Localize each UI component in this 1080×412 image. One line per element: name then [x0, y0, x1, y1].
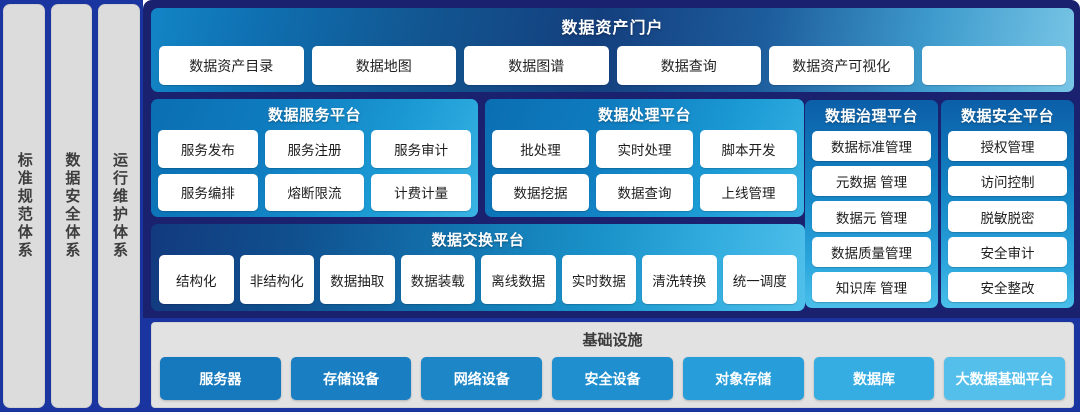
infra-item-object-storage[interactable]: 对象存储: [683, 357, 804, 400]
service-platform-items: 服务发布 服务注册 服务审计 服务编排 熔断限流 计费计量: [158, 130, 471, 211]
service-item-circuit-breaker[interactable]: 熔断限流: [265, 174, 365, 212]
infra-item-server[interactable]: 服务器: [160, 357, 281, 400]
process-platform-title: 数据处理平台: [492, 104, 797, 130]
pillar-operations[interactable]: 运行维护体系: [98, 4, 140, 408]
governance-item-data-quality[interactable]: 数据质量管理: [812, 237, 931, 267]
pillar-data-security[interactable]: 数据安全体系: [51, 4, 93, 408]
infra-item-security-device[interactable]: 安全设备: [552, 357, 673, 400]
exchange-item-load[interactable]: 数据装载: [401, 255, 476, 304]
exchange-item-structured[interactable]: 结构化: [159, 255, 234, 304]
governance-item-metadata[interactable]: 元数据 管理: [812, 166, 931, 196]
architecture-diagram: 标准规范体系 数据安全体系 运行维护体系 数据资产门户 数据资产目录 数据地图 …: [0, 0, 1080, 412]
exchange-item-unstructured[interactable]: 非结构化: [240, 255, 315, 304]
service-item-audit[interactable]: 服务审计: [371, 130, 471, 168]
governance-platform-items: 数据标准管理 元数据 管理 数据元 管理 数据质量管理 知识库 管理: [812, 131, 931, 302]
portal-panel: 数据资产门户 数据资产目录 数据地图 数据图谱 数据查询 数据资产可视化: [151, 8, 1074, 92]
security-platform-title: 数据安全平台: [948, 105, 1067, 131]
security-item-access-control[interactable]: 访问控制: [948, 166, 1067, 196]
process-platform-panel: 数据处理平台 批处理 实时处理 脚本开发 数据挖据 数据查询 上线管理: [485, 99, 804, 217]
exchange-item-cleansing[interactable]: 清洗转换: [642, 255, 717, 304]
infrastructure-items: 服务器 存储设备 网络设备 安全设备 对象存储 数据库 大数据基础平台: [160, 357, 1065, 400]
portal-item-map[interactable]: 数据地图: [312, 46, 457, 85]
governance-item-knowledge-base[interactable]: 知识库 管理: [812, 272, 931, 302]
exchange-platform-title: 数据交换平台: [159, 229, 797, 255]
process-item-query[interactable]: 数据查询: [596, 174, 693, 212]
vertical-pillars: 标准规范体系 数据安全体系 运行维护体系: [0, 0, 143, 412]
infrastructure-outer: 基础设施 服务器 存储设备 网络设备 安全设备 对象存储 数据库 大数据基础平台: [143, 318, 1080, 412]
portal-item-empty[interactable]: [922, 46, 1067, 85]
portal-item-visualization[interactable]: 数据资产可视化: [769, 46, 914, 85]
governance-item-data-element[interactable]: 数据元 管理: [812, 201, 931, 231]
portal-item-query[interactable]: 数据查询: [617, 46, 762, 85]
governance-platform-title: 数据治理平台: [812, 105, 931, 131]
portal-items: 数据资产目录 数据地图 数据图谱 数据查询 数据资产可视化: [159, 46, 1066, 85]
security-item-security-audit[interactable]: 安全审计: [948, 237, 1067, 267]
pillar-operations-label: 运行维护体系: [111, 152, 127, 260]
process-item-batch[interactable]: 批处理: [492, 130, 589, 168]
process-item-realtime[interactable]: 实时处理: [596, 130, 693, 168]
security-platform-items: 授权管理 访问控制 脱敏脱密 安全审计 安全整改: [948, 131, 1067, 302]
governance-item-data-standard[interactable]: 数据标准管理: [812, 131, 931, 161]
process-platform-items: 批处理 实时处理 脚本开发 数据挖据 数据查询 上线管理: [492, 130, 797, 211]
security-item-security-rectification[interactable]: 安全整改: [948, 272, 1067, 302]
process-item-mining[interactable]: 数据挖据: [492, 174, 589, 212]
portal-title: 数据资产门户: [159, 14, 1066, 46]
process-item-release-mgmt[interactable]: 上线管理: [700, 174, 797, 212]
service-item-publish[interactable]: 服务发布: [158, 130, 258, 168]
exchange-item-scheduling[interactable]: 统一调度: [723, 255, 798, 304]
portal-item-graph[interactable]: 数据图谱: [464, 46, 609, 85]
security-item-authorization[interactable]: 授权管理: [948, 131, 1067, 161]
infrastructure-panel: 基础设施 服务器 存储设备 网络设备 安全设备 对象存储 数据库 大数据基础平台: [151, 322, 1074, 408]
service-item-billing[interactable]: 计费计量: [371, 174, 471, 212]
governance-platform-panel: 数据治理平台 数据标准管理 元数据 管理 数据元 管理 数据质量管理 知识库 管…: [805, 100, 938, 308]
exchange-platform-panel: 数据交换平台 结构化 非结构化 数据抽取 数据装载 离线数据 实时数据 清洗转换…: [151, 224, 805, 311]
infrastructure-title: 基础设施: [160, 327, 1065, 357]
pillar-standards-label: 标准规范体系: [16, 152, 32, 260]
pillar-data-security-label: 数据安全体系: [64, 152, 80, 260]
security-item-desensitization[interactable]: 脱敏脱密: [948, 201, 1067, 231]
process-item-script-dev[interactable]: 脚本开发: [700, 130, 797, 168]
exchange-item-offline-data[interactable]: 离线数据: [481, 255, 556, 304]
infra-item-storage[interactable]: 存储设备: [291, 357, 412, 400]
service-item-register[interactable]: 服务注册: [265, 130, 365, 168]
infra-item-network[interactable]: 网络设备: [421, 357, 542, 400]
service-item-orchestration[interactable]: 服务编排: [158, 174, 258, 212]
infra-item-database[interactable]: 数据库: [814, 357, 935, 400]
service-platform-panel: 数据服务平台 服务发布 服务注册 服务审计 服务编排 熔断限流 计费计量: [151, 99, 478, 217]
security-platform-panel: 数据安全平台 授权管理 访问控制 脱敏脱密 安全审计 安全整改: [941, 100, 1074, 308]
exchange-platform-items: 结构化 非结构化 数据抽取 数据装载 离线数据 实时数据 清洗转换 统一调度: [159, 255, 797, 304]
portal-item-catalog[interactable]: 数据资产目录: [159, 46, 304, 85]
main-column: 数据资产门户 数据资产目录 数据地图 数据图谱 数据查询 数据资产可视化 数据服…: [143, 0, 1080, 412]
service-platform-title: 数据服务平台: [158, 104, 471, 130]
exchange-item-extract[interactable]: 数据抽取: [320, 255, 395, 304]
platform-frame: 数据资产门户 数据资产目录 数据地图 数据图谱 数据查询 数据资产可视化 数据服…: [143, 0, 1080, 318]
pillar-standards[interactable]: 标准规范体系: [3, 4, 45, 408]
infra-item-bigdata-platform[interactable]: 大数据基础平台: [944, 357, 1065, 400]
exchange-item-realtime-data[interactable]: 实时数据: [562, 255, 637, 304]
